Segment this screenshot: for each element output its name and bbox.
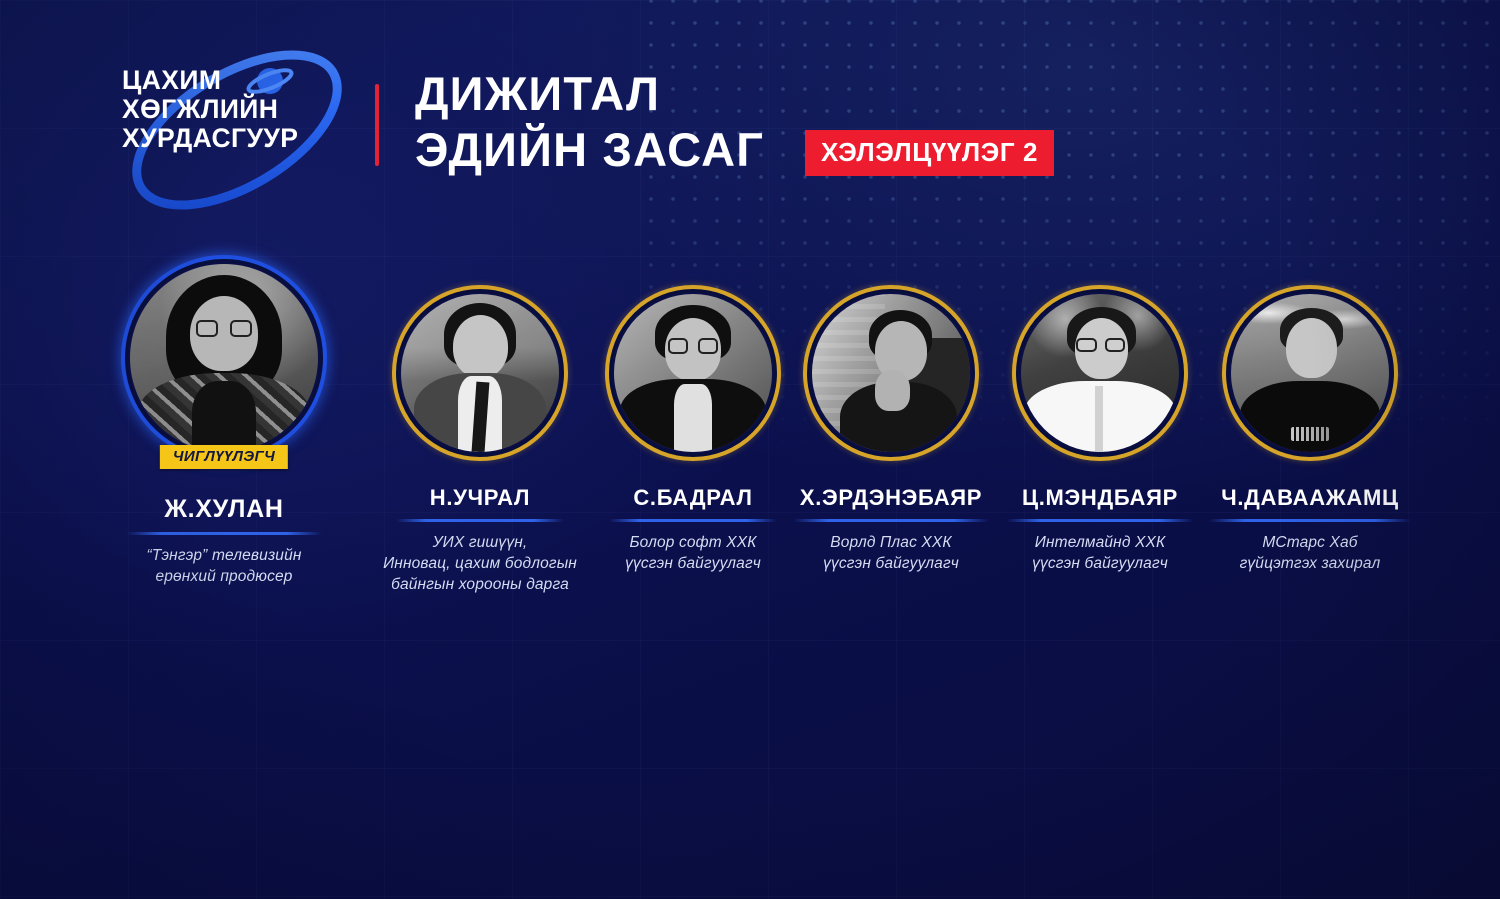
session-badge: ХЭЛЭЛЦҮҮЛЭГ 2 (805, 130, 1054, 176)
role-line-3: байнгын хорооны дарга (350, 574, 610, 595)
speaker-role-4: Интелмайнд ХХК үүсгэн байгуулагч (985, 532, 1215, 574)
speaker-card-1[interactable]: Н.УЧРАЛ УИХ гишүүн, Инновац, цахим бодло… (350, 285, 610, 595)
speaker-card-2[interactable]: С.БАДРАЛ Болор софт ХХК үүсгэн байгуулаг… (578, 285, 808, 574)
page-title: ДИЖИТАЛ ЭДИЙН ЗАСАГ (415, 68, 764, 176)
portrait-graphic (1021, 294, 1179, 452)
logo-line-2: ХӨГЖЛИЙН (122, 95, 362, 124)
role-line-2: ерөнхий продюсер (96, 566, 352, 587)
title-line-1: ДИЖИТАЛ (415, 68, 764, 120)
portrait-graphic (1231, 294, 1389, 452)
role-line-2: үүсгэн байгуулагч (776, 553, 1006, 574)
role-line-2: үүсгэн байгуулагч (985, 553, 1215, 574)
speaker-avatar-4 (1012, 285, 1188, 461)
speaker-card-moderator[interactable]: ЧИГЛҮҮЛЭГЧ Ж.ХУЛАН “Тэнгэр” телевизийн е… (96, 255, 352, 587)
title-line-2: ЭДИЙН ЗАСАГ (415, 124, 764, 176)
speaker-role-1: УИХ гишүүн, Инновац, цахим бодлогын байн… (350, 532, 610, 595)
speaker-photo-5 (1231, 294, 1389, 452)
role-line-2: гүйцэтгэх захирал (1190, 553, 1430, 574)
speaker-role-2: Болор софт ХХК үүсгэн байгуулагч (578, 532, 808, 574)
moderator-name: Ж.ХУЛАН (96, 495, 352, 524)
speaker-name-5: Ч.ДАВААЖАМЦ (1190, 485, 1430, 511)
logo-line-1: ЦАХИМ (122, 66, 362, 95)
role-line-1: МСтарс Хаб (1190, 532, 1430, 553)
portrait-graphic (812, 294, 970, 452)
role-line-1: Интелмайнд ХХК (985, 532, 1215, 553)
speaker-avatar-3 (803, 285, 979, 461)
name-underline (396, 519, 564, 522)
logo-line-3: ХУРДАСГУУР (122, 124, 362, 153)
speaker-card-4[interactable]: Ц.МЭНДБАЯР Интелмайнд ХХК үүсгэн байгуул… (985, 285, 1215, 574)
role-line-1: “Тэнгэр” телевизийн (96, 545, 352, 566)
role-line-2: үүсгэн байгуулагч (578, 553, 808, 574)
header: ЦАХИМ ХӨГЖЛИЙН ХУРДАСГУУР ДИЖИТАЛ ЭДИЙН … (0, 0, 1500, 230)
speaker-name-4: Ц.МЭНДБАЯР (985, 485, 1215, 511)
speaker-photo-4 (1021, 294, 1179, 452)
speaker-avatar-1 (392, 285, 568, 461)
name-underline (1209, 519, 1411, 522)
role-line-1: Болор софт ХХК (578, 532, 808, 553)
name-underline (793, 519, 989, 522)
portrait-graphic (401, 294, 559, 452)
role-line-1: УИХ гишүүн, (350, 532, 610, 553)
moderator-avatar: ЧИГЛҮҮЛЭГЧ (121, 255, 327, 461)
moderator-role: “Тэнгэр” телевизийн ерөнхий продюсер (96, 545, 352, 587)
speaker-name-1: Н.УЧРАЛ (350, 485, 610, 511)
portrait-graphic (130, 264, 318, 452)
speaker-name-2: С.БАДРАЛ (578, 485, 808, 511)
event-logo: ЦАХИМ ХӨГЖЛИЙН ХУРДАСГУУР (112, 40, 362, 215)
role-line-2: Инновац, цахим бодлогын (350, 553, 610, 574)
speaker-card-3[interactable]: Х.ЭРДЭНЭБАЯР Ворлд Плас ХХК үүсгэн байгу… (776, 285, 1006, 574)
speaker-role-5: МСтарс Хаб гүйцэтгэх захирал (1190, 532, 1430, 574)
speakers-row: ЧИГЛҮҮЛЭГЧ Ж.ХУЛАН “Тэнгэр” телевизийн е… (0, 255, 1500, 615)
speaker-role-3: Ворлд Плас ХХК үүсгэн байгуулагч (776, 532, 1006, 574)
logo-wordmark: ЦАХИМ ХӨГЖЛИЙН ХУРДАСГУУР (122, 66, 362, 153)
slide-stage: ЦАХИМ ХӨГЖЛИЙН ХУРДАСГУУР ДИЖИТАЛ ЭДИЙН … (0, 0, 1500, 899)
speaker-card-5[interactable]: Ч.ДАВААЖАМЦ МСтарс Хаб гүйцэтгэх захирал (1190, 285, 1430, 574)
header-divider (375, 84, 379, 166)
moderator-photo (130, 264, 318, 452)
moderator-badge: ЧИГЛҮҮЛЭГЧ (160, 445, 288, 469)
speaker-photo-2 (614, 294, 772, 452)
name-underline (1007, 519, 1193, 522)
portrait-graphic (614, 294, 772, 452)
speaker-avatar-5 (1222, 285, 1398, 461)
name-underline (126, 532, 322, 535)
speaker-name-3: Х.ЭРДЭНЭБАЯР (776, 485, 1006, 511)
name-underline (609, 519, 777, 522)
speaker-photo-1 (401, 294, 559, 452)
role-line-1: Ворлд Плас ХХК (776, 532, 1006, 553)
speaker-photo-3 (812, 294, 970, 452)
speaker-avatar-2 (605, 285, 781, 461)
